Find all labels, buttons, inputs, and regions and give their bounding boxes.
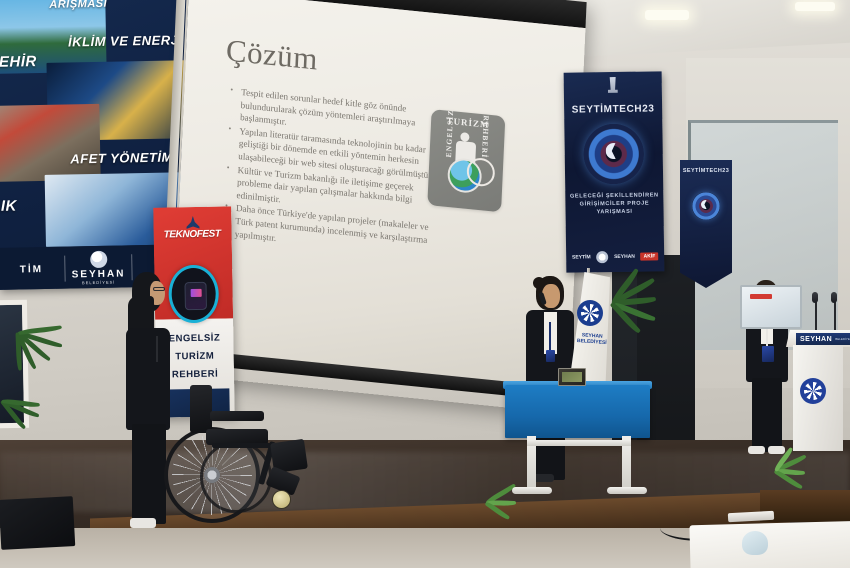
blue-draped-table [505, 385, 650, 438]
event-banner-large: SEYTİMTECH23 GELECEĞİ ŞEKİLLENDİREN GİRİ… [564, 71, 665, 272]
hair-bun [533, 277, 545, 289]
poster-footer-tim: TİM [0, 263, 65, 275]
event-logo-icon [692, 192, 720, 220]
lanyard [549, 322, 551, 352]
microphone-stand [815, 300, 817, 332]
poster-image-disaster [0, 104, 101, 182]
podium-nameplate: SEYHAN BELEDİYESİ [796, 333, 850, 345]
poster-category-saglik: LIK [0, 197, 17, 214]
logo-top-text: TURİZM [431, 114, 505, 131]
microphone-icon [831, 292, 837, 303]
table-foot [512, 487, 552, 494]
seyhan-logo-icon [800, 378, 826, 404]
poster-category-sehir: ŞEHİR [0, 53, 37, 71]
podium-monitor[interactable] [740, 285, 802, 329]
logo-left-text: ENGELSİZ [444, 103, 456, 164]
table-crossbar [527, 440, 631, 446]
poster-category-afet: AFET YÖNETİMİ [70, 149, 177, 166]
wheelchair-armrest [210, 411, 264, 421]
conference-presentation-scene: ARIŞMASI İKLİM VE ENERJİ ŞEHİR AFET YÖNE… [0, 0, 850, 568]
banner-small-title: SEYTİMTECH23 [680, 168, 732, 174]
loudspeaker [0, 496, 75, 550]
id-badge [546, 350, 555, 362]
podium-name: SEYHAN [800, 336, 832, 343]
ceiling-light-icon [645, 10, 689, 20]
wheelchair [160, 385, 360, 545]
award-plaque [558, 368, 586, 386]
banner-title: SEYTİMTECH23 [564, 103, 662, 115]
event-logo-icon [583, 124, 644, 185]
microphone-stand [834, 300, 836, 332]
water-bottle [742, 531, 768, 555]
microphone-icon [812, 292, 818, 303]
id-badge [762, 346, 774, 362]
ceiling-light-icon [795, 2, 835, 11]
trophy-icon [608, 77, 618, 99]
glasses-icon [153, 287, 165, 291]
teknofest-brand: TEKNOFEST [164, 229, 221, 241]
person-shoe [130, 518, 156, 528]
seyhan-logo-icon [90, 251, 107, 268]
wheelchair-backrest [190, 385, 212, 433]
lanyard [156, 336, 158, 362]
person-shoe [748, 446, 765, 454]
slide-bullet-list: Tespit edilen sorunlar hedef kitle göz ö… [223, 85, 441, 261]
podium-subname: BELEDİYESİ [835, 337, 850, 341]
table-foot [607, 487, 647, 494]
slide-title: Çözüm [225, 32, 318, 77]
smartwatch-icon [184, 282, 206, 310]
poster-category-iklim: İKLİM VE ENERJİ [68, 32, 183, 49]
event-banner-small: SEYTİMTECH23 [680, 160, 732, 288]
seyhan-logo-icon [577, 300, 603, 326]
banner-footer: SEYTİM SEYHAN AKİF [566, 247, 664, 266]
person-shoe [768, 446, 785, 454]
person-legs [752, 378, 782, 452]
banner-subtitle: GELECEĞİ ŞEKİLLENDİREN GİRİŞİMCİLER PROJ… [569, 191, 659, 216]
poster-header: ARIŞMASI [49, 0, 107, 11]
wheelchair-caster-wheel [272, 490, 291, 509]
foreground-table [689, 521, 850, 568]
seyhan-logo-icon [596, 251, 608, 263]
monitor-highlight [750, 294, 772, 299]
project-logo: TURİZM ENGELSİZ REHBERİ [427, 109, 505, 212]
